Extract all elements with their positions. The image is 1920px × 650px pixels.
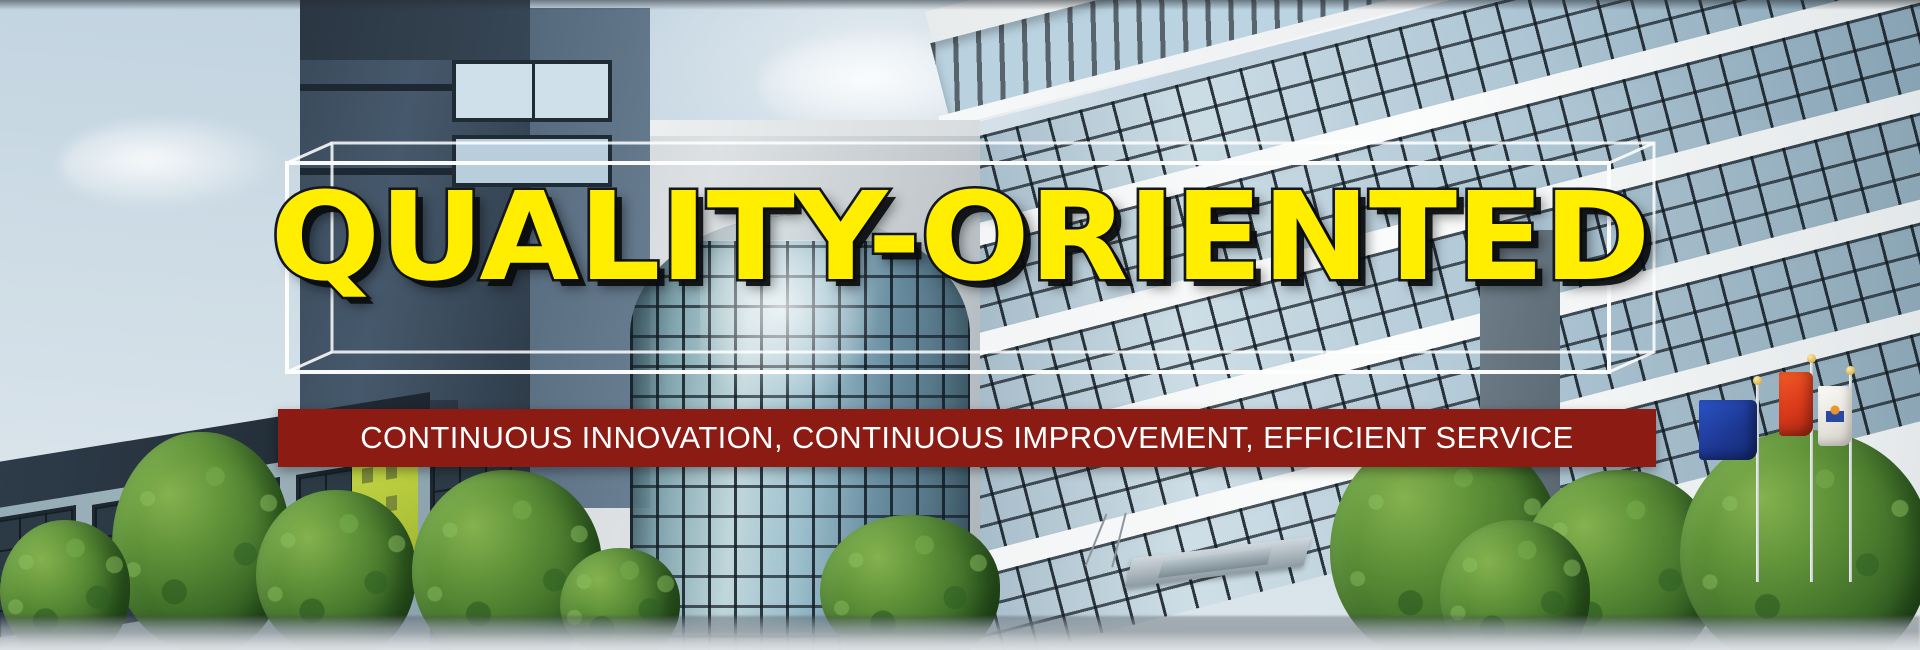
page-title: QUALITY-ORIENTED [0,176,1920,298]
flag-white-emblem [1826,402,1844,422]
flagpole-3-finial [1846,366,1855,375]
hero-banner: QUALITY-ORIENTED CONTINUOUS INNOVATION, … [0,0,1920,650]
flag-blue [1699,400,1757,460]
subtitle-banner: CONTINUOUS INNOVATION, CONTINUOUS IMPROV… [278,409,1656,467]
tower-corner-window-upper [452,60,612,122]
flagpole-2-finial [1807,354,1816,363]
ground-haze [0,632,1920,650]
flagpole-1-finial [1753,376,1762,385]
tower-parapet [300,0,530,60]
subtitle-text: CONTINUOUS INNOVATION, CONTINUOUS IMPROV… [360,420,1573,456]
flag-red [1779,372,1813,436]
